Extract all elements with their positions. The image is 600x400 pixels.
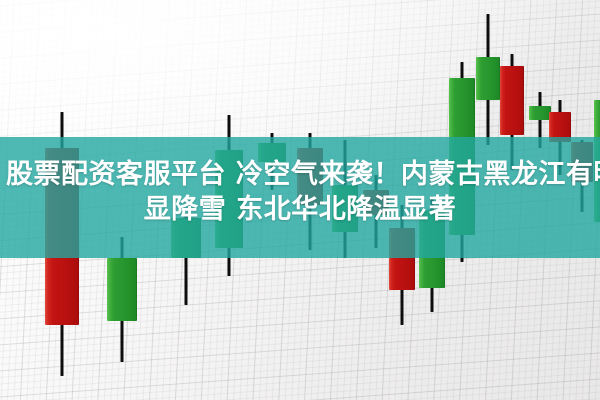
candlestick-chart-image: 股票配资客服平台 冷空气来袭！内蒙古黑龙江有明 显降雪 东北华北降温显著 (0, 0, 600, 400)
candle-body-up (476, 57, 500, 100)
candle-wick (539, 92, 542, 148)
candle-body-down (549, 112, 571, 142)
headline-line-2: 显降雪 东北华北降温显著 (6, 192, 594, 227)
candle-body-up (107, 258, 137, 321)
overlay-headline: 股票配资客服平台 冷空气来袭！内蒙古黑龙江有明 显降雪 东北华北降温显著 (0, 157, 600, 227)
candle-body-down (389, 228, 415, 290)
candle-body-down (500, 66, 524, 135)
candle-body-up (529, 106, 551, 120)
headline-line-1: 股票配资客服平台 冷空气来袭！内蒙古黑龙江有明 (6, 157, 594, 192)
